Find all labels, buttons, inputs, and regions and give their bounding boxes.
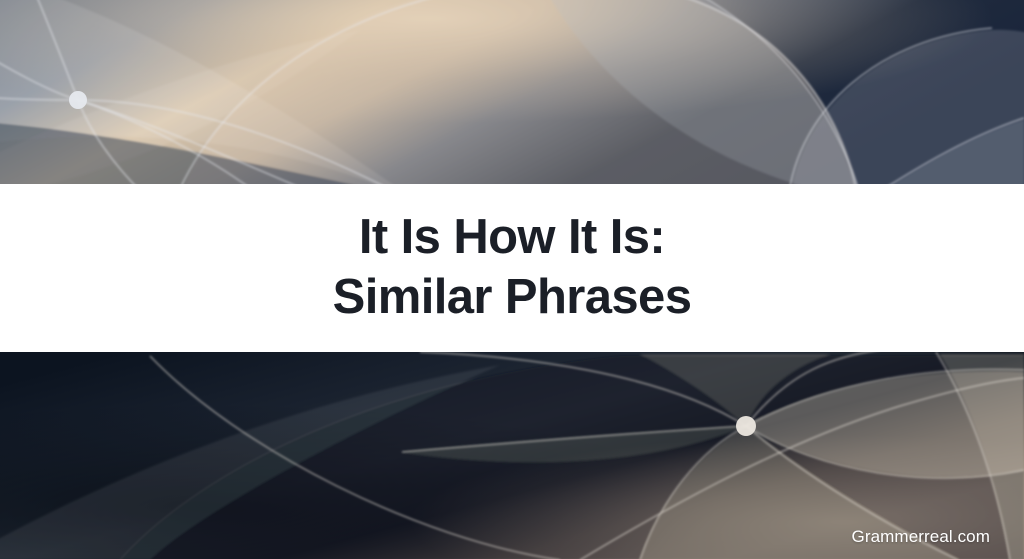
node-dot-bottom-right <box>736 416 756 436</box>
slide-canvas: It Is How It Is: Similar Phrases Grammer… <box>0 0 1024 559</box>
node-dot-top-left <box>69 91 87 109</box>
site-watermark: Grammerreal.com <box>852 527 990 547</box>
page-title-line-1: It Is How It Is: <box>359 208 665 268</box>
page-title-line-2: Similar Phrases <box>333 268 692 328</box>
title-banner: It Is How It Is: Similar Phrases <box>0 184 1024 352</box>
